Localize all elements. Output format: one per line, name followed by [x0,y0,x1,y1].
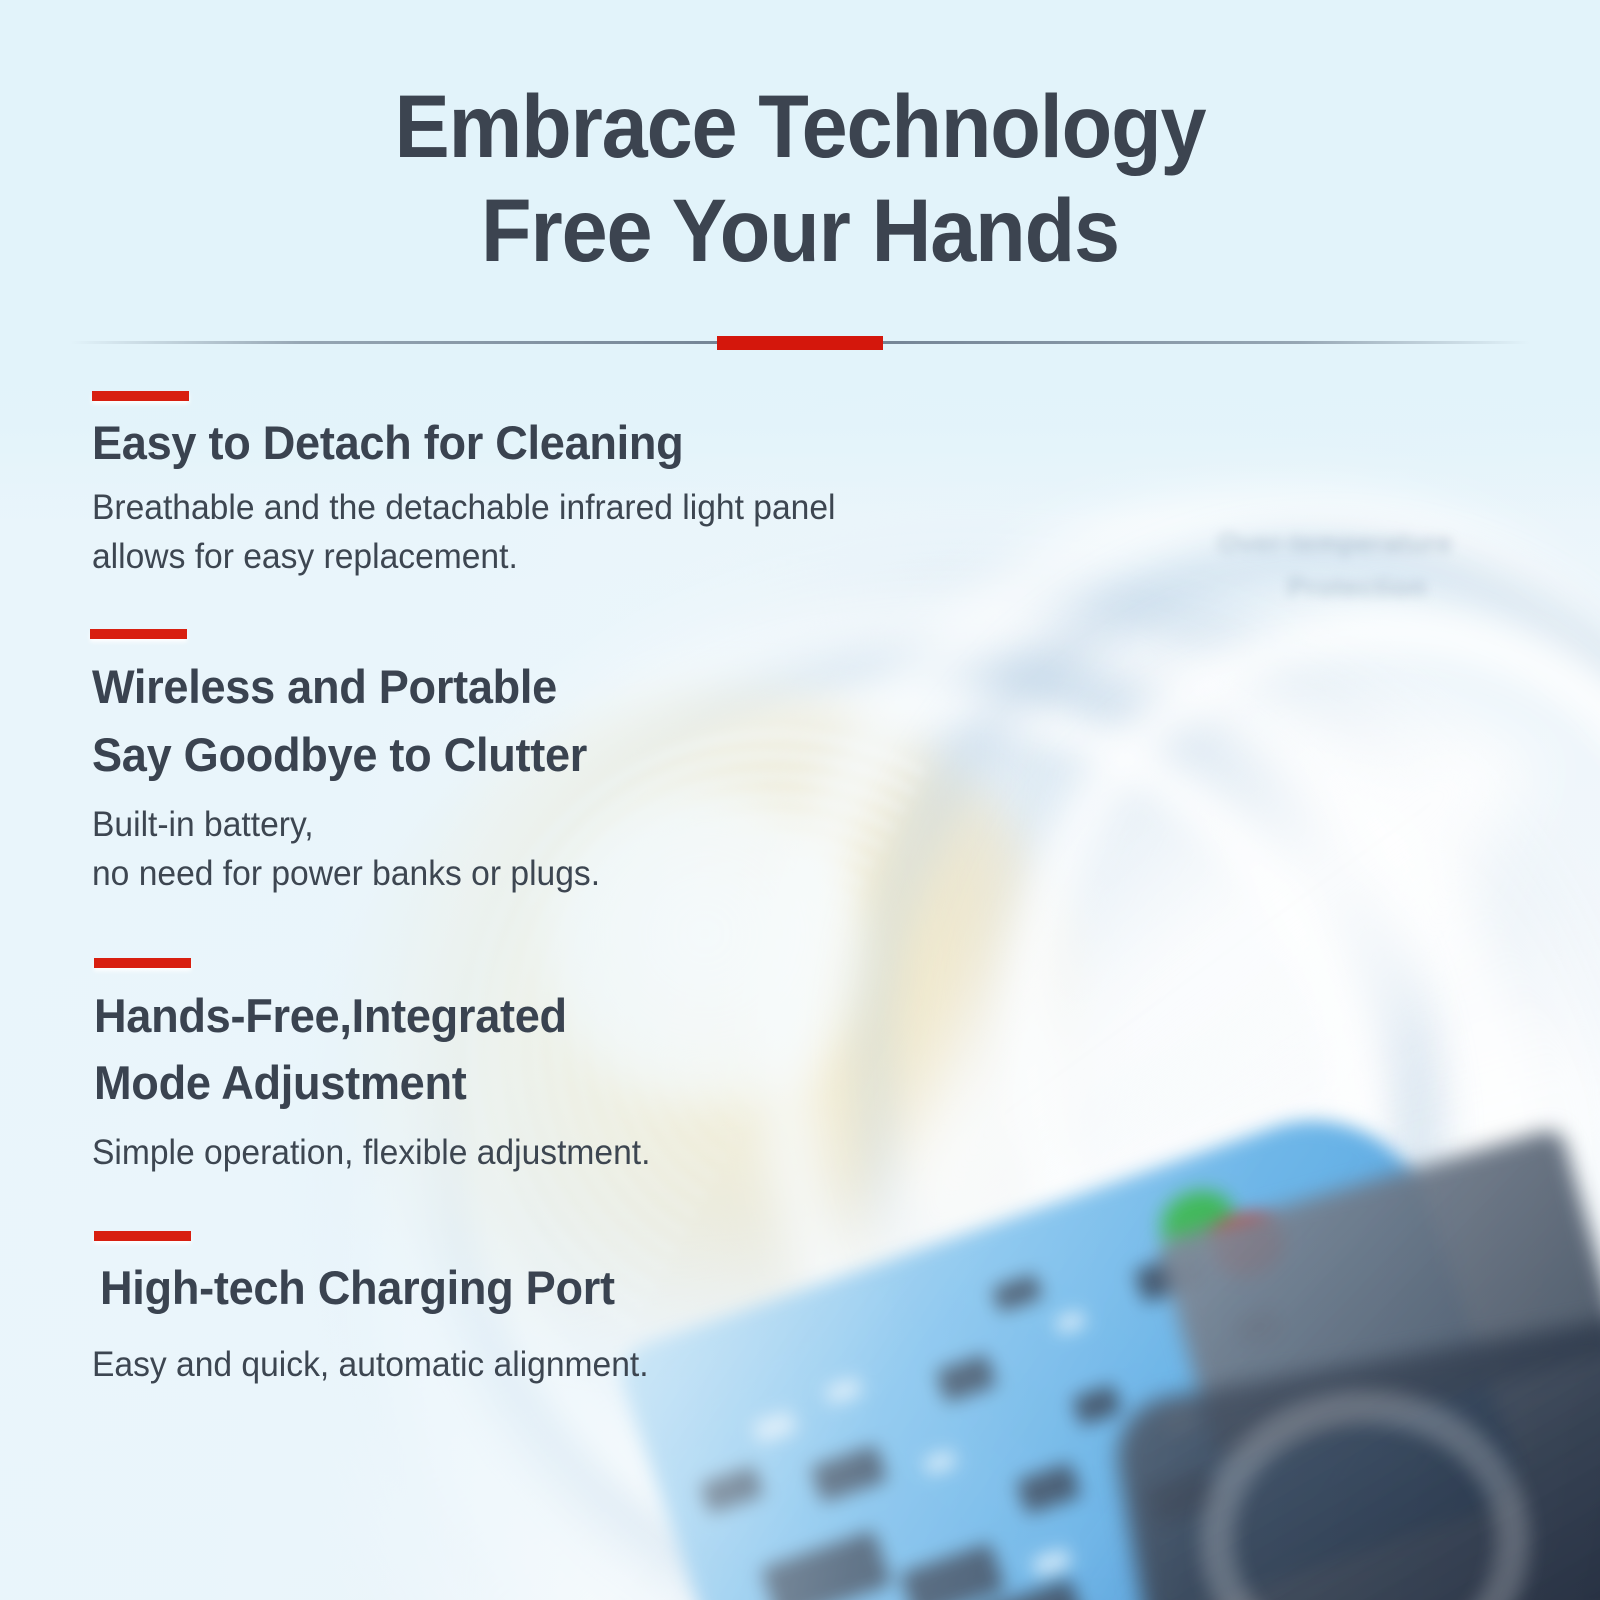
feature-description-line: Built-in battery, [92,800,1540,849]
feature-accent-dash [94,958,191,968]
feature-title: Hands-Free,IntegratedMode Adjustment [94,982,1540,1116]
page-content: Embrace Technology Free Your Hands Easy … [0,0,1600,1600]
feature-description: Easy and quick, automatic alignment. [92,1340,1540,1389]
feature-list: Easy to Detach for CleaningBreathable an… [0,391,1600,1389]
feature-description-line: Simple operation, flexible adjustment. [92,1128,1540,1177]
feature-block: High-tech Charging PortEasy and quick, a… [92,1231,1600,1389]
feature-description: Built-in battery,no need for power banks… [92,800,1540,898]
divider-accent-tick [717,336,883,350]
feature-block: Wireless and PortableSay Goodbye to Clut… [92,629,1600,897]
feature-block: Easy to Detach for CleaningBreathable an… [92,391,1600,581]
page-title-line-1: Embrace Technology [56,74,1544,178]
feature-accent-dash [94,1231,191,1241]
feature-title: Wireless and PortableSay Goodbye to Clut… [92,653,1540,787]
feature-description-line: no need for power banks or plugs. [92,849,1540,898]
feature-title: High-tech Charging Port [100,1257,1540,1318]
feature-description: Breathable and the detachable infrared l… [92,483,1540,581]
feature-accent-dash [92,391,189,401]
section-divider [70,339,1530,345]
feature-accent-dash [90,629,187,639]
feature-title-line: Easy to Detach for Cleaning [92,412,1540,473]
feature-description: Simple operation, flexible adjustment. [92,1128,1540,1177]
feature-title-line: Mode Adjustment [94,1049,1540,1116]
feature-description-line: Breathable and the detachable infrared l… [92,483,1540,532]
page-title: Embrace Technology Free Your Hands [56,0,1544,282]
feature-title-line: High-tech Charging Port [100,1257,1540,1318]
feature-description-line: allows for easy replacement. [92,532,1540,581]
feature-description-line: Easy and quick, automatic alignment. [92,1340,1540,1389]
feature-block: Hands-Free,IntegratedMode AdjustmentSimp… [92,958,1600,1177]
feature-title-line: Say Goodbye to Clutter [92,721,1540,788]
page-title-line-2: Free Your Hands [56,178,1544,282]
feature-title-line: Wireless and Portable [92,653,1540,720]
feature-title: Easy to Detach for Cleaning [92,412,1540,473]
feature-title-line: Hands-Free,Integrated [94,982,1540,1049]
